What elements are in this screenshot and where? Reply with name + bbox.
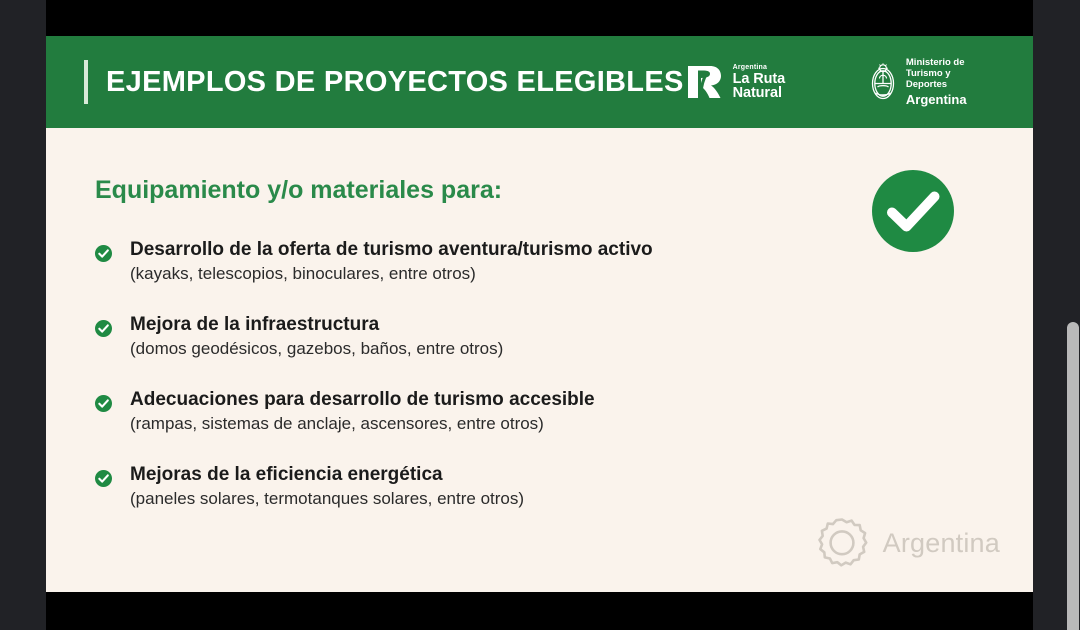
slide-header: EJEMPLOS DE PROYECTOS ELEGIBLES Argentin…	[46, 36, 1033, 128]
argentina-coat-of-arms-icon	[868, 62, 898, 102]
check-circle-icon	[95, 470, 112, 487]
ruta-natural-r-icon	[684, 62, 724, 102]
logo-la-ruta-natural-text: Argentina La Ruta Natural	[733, 64, 822, 101]
check-circle-large-icon	[872, 170, 954, 252]
list-item-text: Mejoras de la eficiencia energética (pan…	[130, 463, 524, 510]
list-item-title: Desarrollo de la oferta de turismo avent…	[130, 238, 653, 261]
logo-ministerio-line2: Turismo y Deportes	[906, 68, 981, 90]
list-item: Mejoras de la eficiencia energética (pan…	[95, 463, 1033, 510]
list-item-detail: (paneles solares, termotanques solares, …	[130, 489, 524, 510]
logo-ruta-label: La Ruta Natural	[733, 72, 822, 101]
list-item: Mejora de la infraestructura (domos geod…	[95, 313, 1033, 360]
title-accent-bar	[84, 60, 88, 104]
list-item-title: Mejora de la infraestructura	[130, 313, 503, 336]
list-item-detail: (rampas, sistemas de anclaje, ascensores…	[130, 414, 595, 435]
check-circle-icon	[95, 320, 112, 337]
eligible-projects-list: Desarrollo de la oferta de turismo avent…	[95, 238, 1033, 510]
slide-body: Equipamiento y/o materiales para: Desarr…	[46, 128, 1033, 592]
slide: EJEMPLOS DE PROYECTOS ELEGIBLES Argentin…	[46, 36, 1033, 592]
vertical-scrollbar-thumb[interactable]	[1067, 322, 1079, 630]
presentation-viewport: EJEMPLOS DE PROYECTOS ELEGIBLES Argentin…	[0, 0, 1080, 630]
list-item-detail: (domos geodésicos, gazebos, baños, entre…	[130, 339, 503, 360]
list-item-text: Adecuaciones para desarrollo de turismo …	[130, 388, 595, 435]
logo-ministerio-line1: Ministerio de	[906, 57, 981, 68]
vertical-scrollbar-track[interactable]	[1066, 0, 1080, 630]
list-item-title: Mejoras de la eficiencia energética	[130, 463, 524, 486]
chrome-top-band	[46, 0, 1033, 36]
chrome-left-band	[0, 0, 46, 630]
check-circle-icon	[95, 245, 112, 262]
chrome-bottom-band	[46, 592, 1033, 630]
logo-ministerio-turismo: Ministerio de Turismo y Deportes Argenti…	[868, 57, 981, 107]
list-item: Adecuaciones para desarrollo de turismo …	[95, 388, 1033, 435]
slide-title: EJEMPLOS DE PROYECTOS ELEGIBLES	[106, 66, 684, 99]
logo-ruta-superlabel: Argentina	[733, 64, 822, 71]
argentina-watermark: Argentina	[815, 516, 1000, 570]
header-logo-group: Argentina La Ruta Natural	[684, 57, 1033, 107]
list-item-title: Adecuaciones para desarrollo de turismo …	[130, 388, 595, 411]
check-circle-icon	[95, 395, 112, 412]
argentina-watermark-label: Argentina	[883, 528, 1000, 559]
list-item-text: Desarrollo de la oferta de turismo avent…	[130, 238, 653, 285]
logo-la-ruta-natural: Argentina La Ruta Natural	[684, 62, 822, 102]
list-item-detail: (kayaks, telescopios, binoculares, entre…	[130, 264, 653, 285]
argentina-sun-icon	[815, 516, 869, 570]
logo-ministerio-line3: Argentina	[906, 92, 981, 107]
logo-ministerio-text: Ministerio de Turismo y Deportes Argenti…	[906, 57, 981, 107]
list-item-text: Mejora de la infraestructura (domos geod…	[130, 313, 503, 360]
